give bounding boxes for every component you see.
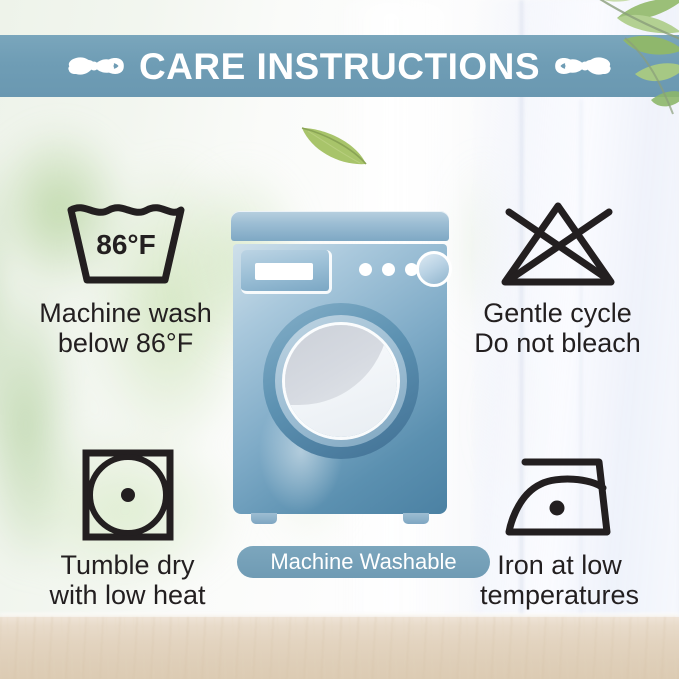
machine-foot-right	[403, 513, 429, 524]
care-label-tumble-dry: Tumble dry with low heat	[49, 550, 205, 610]
machine-foot-left	[251, 513, 277, 524]
wash-tub-icon: 86°F	[61, 196, 191, 292]
machine-top-panel	[231, 211, 449, 241]
tumble-dry-low-icon	[73, 448, 183, 544]
detergent-drawer-slot	[255, 263, 313, 280]
page-title: CARE INSTRUCTIONS	[139, 48, 540, 85]
care-symbol-tumble-dry: Tumble dry with low heat	[20, 448, 235, 610]
machine-door-reflection	[285, 325, 389, 405]
table-wood-grain	[0, 617, 679, 679]
care-label-machine-wash: Machine wash below 86°F	[39, 298, 212, 358]
care-symbol-do-not-bleach: Gentle cycle Do not bleach	[450, 196, 665, 358]
control-indicator-lights	[359, 263, 418, 276]
program-selector-knob	[416, 251, 452, 287]
washing-machine-icon	[231, 211, 449, 527]
care-symbol-machine-wash: 86°F Machine wash below 86°F	[18, 196, 233, 358]
iron-one-dot-icon	[495, 448, 625, 544]
machine-door-glass	[285, 325, 397, 437]
fleur-de-lis-icon-left	[63, 45, 125, 87]
care-symbol-iron-low: Iron at low temperatures	[452, 448, 667, 610]
indicator-dot	[382, 263, 395, 276]
floating-leaf-icon	[298, 122, 370, 170]
wash-temperature-value: 86°F	[96, 229, 155, 260]
badge-label: Machine Washable	[270, 551, 456, 573]
triangle-crossed-icon	[493, 196, 623, 292]
indicator-dot	[359, 263, 372, 276]
care-instructions-infographic: CARE INSTRUCTIONS	[0, 0, 679, 679]
detergent-drawer	[241, 250, 332, 294]
care-label-iron-low: Iron at low temperatures	[480, 550, 639, 610]
leaf-sprig-icon	[565, 0, 679, 138]
care-label-do-not-bleach: Gentle cycle Do not bleach	[474, 298, 641, 358]
machine-washable-badge: Machine Washable	[237, 546, 490, 578]
